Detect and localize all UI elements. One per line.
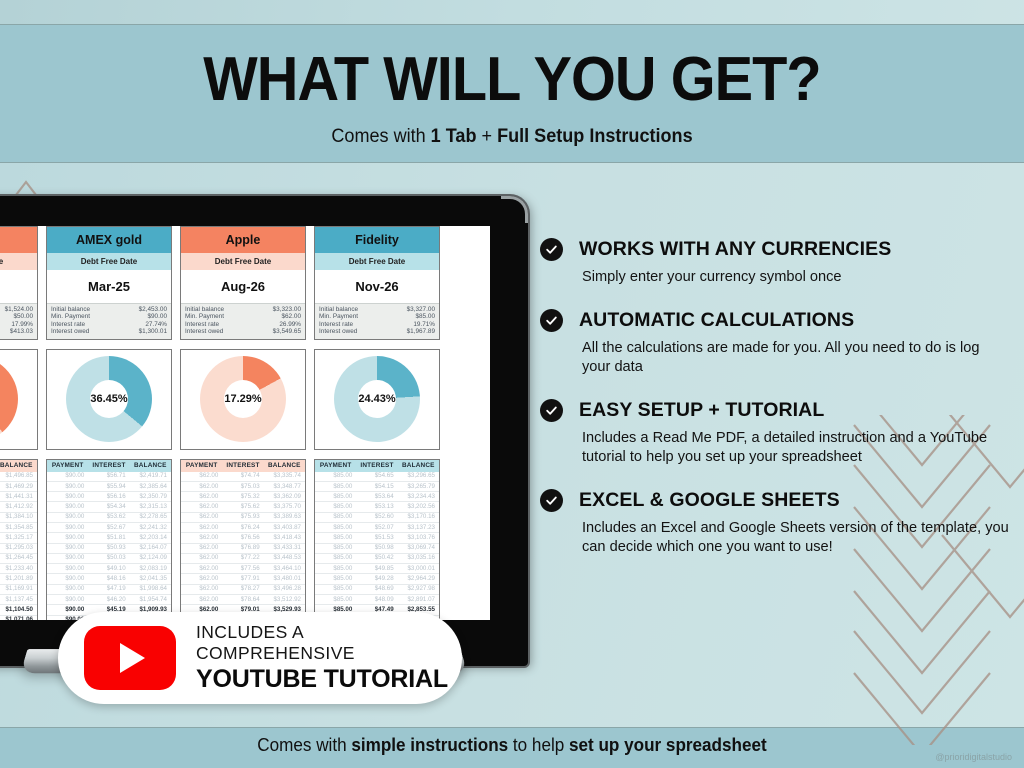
stat-value: $90.00 bbox=[147, 313, 167, 320]
stat-row: Interest owed$413.03 bbox=[0, 328, 33, 335]
table-cell: $90.00 bbox=[47, 492, 88, 501]
table-cell: $77.22 bbox=[222, 554, 263, 563]
table-cell: $62.00 bbox=[181, 574, 222, 583]
table-cell: $90.00 bbox=[47, 472, 88, 481]
table-cell: $77.56 bbox=[222, 564, 263, 573]
table-column-header: PAYMENT bbox=[315, 460, 356, 472]
debt-card[interactable]: AMEX goldDebt Free DateMar-25Initial bal… bbox=[46, 226, 172, 620]
stat-value: $3,549.65 bbox=[273, 328, 301, 335]
table-cell: $1,384.10 bbox=[0, 513, 37, 522]
table-cell: $2,927.98 bbox=[398, 585, 439, 594]
stat-row: Min. Payment$50.00 bbox=[0, 313, 33, 320]
stat-value: $3,327.00 bbox=[407, 306, 435, 313]
table-header-row: PAYMENTINTERESTBALANCE bbox=[315, 460, 439, 472]
feature-title: AUTOMATIC CALCULATIONS bbox=[579, 309, 854, 332]
donut-percentage-label: 17.29% bbox=[181, 393, 305, 405]
table-cell: $75.03 bbox=[222, 482, 263, 491]
table-cell: $75.62 bbox=[222, 502, 263, 511]
debt-card-stats: Initial balance$3,327.00Min. Payment$85.… bbox=[315, 303, 439, 339]
check-circle-icon bbox=[540, 399, 563, 422]
amortization-table[interactable]: PAYMENTINTERESTBALANCE$62.00$74.74$3,335… bbox=[180, 459, 306, 620]
table-cell: $1,104.50 bbox=[0, 605, 37, 614]
table-cell: $3,348.77 bbox=[264, 482, 305, 491]
progress-donut-chart: 36.45% bbox=[46, 349, 172, 450]
amortization-table[interactable]: PAYMENTINTERESTBALANCE$50.00$22.85$1,496… bbox=[0, 459, 38, 620]
table-row: $62.00$75.32$3,362.09 bbox=[181, 492, 305, 502]
table-row: $90.00$50.03$2,124.09 bbox=[47, 554, 171, 564]
amortization-table[interactable]: PAYMENTINTERESTBALANCE$85.00$54.65$3,296… bbox=[314, 459, 440, 620]
table-cell: $53.13 bbox=[356, 502, 397, 511]
feature-title: WORKS WITH ANY CURRENCIES bbox=[579, 238, 891, 261]
table-cell: $3,265.79 bbox=[398, 482, 439, 491]
table-column-header: BALANCE bbox=[398, 460, 439, 472]
stat-value: $62.00 bbox=[281, 313, 301, 320]
debt-free-date-value: Nov-26 bbox=[315, 270, 439, 303]
debt-card-name: AMEX gold bbox=[47, 227, 171, 253]
table-cell: $3,433.31 bbox=[264, 544, 305, 553]
table-cell: $2,385.64 bbox=[130, 482, 171, 491]
table-cell: $62.00 bbox=[181, 492, 222, 501]
table-column-header: INTEREST bbox=[88, 460, 129, 472]
table-row: $85.00$54.65$3,296.65 bbox=[315, 472, 439, 482]
debt-card-name: Fidelity bbox=[315, 227, 439, 253]
table-cell: $85.00 bbox=[315, 554, 356, 563]
table-cell: $3,375.70 bbox=[264, 502, 305, 511]
table-row: $62.00$76.89$3,433.31 bbox=[181, 544, 305, 554]
table-column-header: PAYMENT bbox=[47, 460, 88, 472]
table-cell: $2,124.09 bbox=[130, 554, 171, 563]
table-cell: $75.32 bbox=[222, 492, 263, 501]
table-row: $90.00$46.20$1,954.74 bbox=[47, 595, 171, 605]
feature-description: Simply enter your currency symbol once bbox=[582, 268, 1010, 287]
table-cell: $3,202.56 bbox=[398, 502, 439, 511]
stat-label: Interest owed bbox=[51, 328, 89, 335]
table-row: $85.00$50.98$3,069.74 bbox=[315, 544, 439, 554]
table-cell: $54.65 bbox=[356, 472, 397, 481]
table-header-row: PAYMENTINTERESTBALANCE bbox=[47, 460, 171, 472]
progress-donut-chart: 24.43% bbox=[314, 349, 440, 450]
table-row: $50.00$20.75$1,354.85 bbox=[0, 523, 37, 533]
table-cell: $3,418.43 bbox=[264, 533, 305, 542]
table-cell: $50.03 bbox=[88, 554, 129, 563]
feature-heading: WORKS WITH ANY CURRENCIES bbox=[540, 238, 1010, 261]
stat-value: 17.99% bbox=[11, 321, 33, 328]
progress-donut-chart: 17.29% bbox=[180, 349, 306, 450]
stat-label: Min. Payment bbox=[319, 313, 358, 320]
table-cell: $3,103.76 bbox=[398, 533, 439, 542]
stat-label: Initial balance bbox=[51, 306, 90, 313]
feature-description: All the calculations are made for you. A… bbox=[582, 339, 1010, 377]
debt-free-date-value: Mar-25 bbox=[47, 270, 171, 303]
youtube-badge-text: INCLUDES A COMPREHENSIVE YOUTUBE TUTORIA… bbox=[196, 622, 462, 694]
feature-title: EASY SETUP + TUTORIAL bbox=[579, 399, 824, 422]
feature-heading: EXCEL & GOOGLE SHEETS bbox=[540, 489, 1010, 512]
table-cell: $50.42 bbox=[356, 554, 397, 563]
table-cell: $62.00 bbox=[181, 513, 222, 522]
table-cell: $3,389.63 bbox=[264, 513, 305, 522]
table-column-header: BALANCE bbox=[130, 460, 171, 472]
table-row: $62.00$74.74$3,335.74 bbox=[181, 472, 305, 482]
table-cell: $2,891.07 bbox=[398, 595, 439, 604]
table-cell: $51.53 bbox=[356, 533, 397, 542]
table-cell: $90.00 bbox=[47, 595, 88, 604]
table-row: $90.00$47.19$1,998.64 bbox=[47, 585, 171, 595]
table-row: $90.00$48.16$2,041.35 bbox=[47, 574, 171, 584]
table-row: $85.00$48.69$2,927.98 bbox=[315, 585, 439, 595]
table-cell: $49.10 bbox=[88, 564, 129, 573]
feature-description: Includes a Read Me PDF, a detailed instr… bbox=[582, 429, 1010, 467]
stat-row: Interest rate17.99% bbox=[0, 321, 33, 328]
table-cell: $53.64 bbox=[356, 492, 397, 501]
stat-row: Interest rate19.71% bbox=[319, 321, 435, 328]
debt-card-summary: FidelityDebt Free DateNov-26Initial bala… bbox=[314, 226, 440, 340]
table-cell: $1,071.06 bbox=[0, 616, 37, 620]
table-cell: $85.00 bbox=[315, 472, 356, 481]
footer-caption: Comes with simple instructions to help s… bbox=[26, 735, 999, 756]
table-row: $50.00$21.18$1,384.10 bbox=[0, 513, 37, 523]
debt-free-date-label: Debt Free Date bbox=[315, 253, 439, 270]
table-cell: $74.74 bbox=[222, 472, 263, 481]
table-cell: $3,448.53 bbox=[264, 554, 305, 563]
watermark: @prioridigitalstudio bbox=[935, 752, 1012, 762]
table-cell: $85.00 bbox=[315, 502, 356, 511]
table-cell: $76.56 bbox=[222, 533, 263, 542]
table-row: $90.00$55.94$2,385.64 bbox=[47, 482, 171, 492]
table-cell: $49.85 bbox=[356, 564, 397, 573]
table-row: $85.00$53.13$3,202.56 bbox=[315, 502, 439, 512]
laptop-mockup: AMEX silverDebt Free DateOct-23Initial b… bbox=[0, 196, 528, 666]
table-row: $90.00$52.67$2,241.32 bbox=[47, 523, 171, 533]
table-row: $85.00$52.07$3,137.23 bbox=[315, 523, 439, 533]
table-cell: $62.00 bbox=[181, 595, 222, 604]
debt-card-name: Apple bbox=[181, 227, 305, 253]
debt-card-summary: AMEX goldDebt Free DateMar-25Initial bal… bbox=[46, 226, 172, 340]
debt-card-summary: DCUDebt Free DateAug-24Initial balance$1… bbox=[0, 226, 38, 340]
table-row: $50.00$19.87$1,295.03 bbox=[0, 544, 37, 554]
check-circle-icon bbox=[540, 489, 563, 512]
table-cell: $3,403.87 bbox=[264, 523, 305, 532]
table-cell: $3,362.09 bbox=[264, 492, 305, 501]
donut-percentage-label: 24.43% bbox=[315, 393, 439, 405]
table-cell: $85.00 bbox=[315, 585, 356, 594]
stat-label: Interest owed bbox=[319, 328, 357, 335]
laptop-screen-bezel: AMEX silverDebt Free DateOct-23Initial b… bbox=[0, 196, 528, 666]
table-cell: $2,964.29 bbox=[398, 574, 439, 583]
footer-bold-simple: simple instructions bbox=[351, 735, 508, 755]
table-cell: $62.00 bbox=[181, 533, 222, 542]
stat-row: Min. Payment$90.00 bbox=[51, 313, 167, 320]
table-cell: $77.91 bbox=[222, 574, 263, 583]
table-column-header: BALANCE bbox=[264, 460, 305, 472]
table-cell: $2,203.14 bbox=[130, 533, 171, 542]
table-cell: $52.07 bbox=[356, 523, 397, 532]
table-cell: $49.28 bbox=[356, 574, 397, 583]
stat-value: $1,967.89 bbox=[407, 328, 435, 335]
table-header-row: PAYMENTINTERESTBALANCE bbox=[0, 460, 37, 472]
table-cell: $1,201.89 bbox=[0, 574, 37, 583]
table-cell: $62.00 bbox=[181, 482, 222, 491]
table-cell: $1,496.85 bbox=[0, 472, 37, 481]
table-row: $62.00$75.93$3,389.63 bbox=[181, 513, 305, 523]
table-cell: $3,335.74 bbox=[264, 472, 305, 481]
table-column-header: INTEREST bbox=[356, 460, 397, 472]
table-cell: $3,234.43 bbox=[398, 492, 439, 501]
debt-free-date-value: Aug-24 bbox=[0, 270, 37, 303]
table-row: $90.00$53.62$2,278.65 bbox=[47, 513, 171, 523]
feature-description: Includes an Excel and Google Sheets vers… bbox=[582, 519, 1010, 557]
table-cell: $90.00 bbox=[47, 533, 88, 542]
table-cell: $85.00 bbox=[315, 595, 356, 604]
debt-card-name: DCU bbox=[0, 227, 37, 253]
table-cell: $48.16 bbox=[88, 574, 129, 583]
table-row: $90.00$50.93$2,164.07 bbox=[47, 544, 171, 554]
table-cell: $54.34 bbox=[88, 502, 129, 511]
table-column-header: PAYMENT bbox=[181, 460, 222, 472]
table-cell: $1,354.85 bbox=[0, 523, 37, 532]
debt-card-stats: Initial balance$1,524.00Min. Payment$50.… bbox=[0, 303, 37, 339]
table-cell: $76.89 bbox=[222, 544, 263, 553]
stat-label: Min. Payment bbox=[185, 313, 224, 320]
stat-label: Interest rate bbox=[185, 321, 219, 328]
table-cell: $90.00 bbox=[47, 564, 88, 573]
table-row: $85.00$50.42$3,035.16 bbox=[315, 554, 439, 564]
table-row: $85.00$52.60$3,170.16 bbox=[315, 513, 439, 523]
table-cell: $62.00 bbox=[181, 544, 222, 553]
table-cell: $85.00 bbox=[315, 492, 356, 501]
spreadsheet-canvas: AMEX silverDebt Free DateOct-23Initial b… bbox=[0, 226, 490, 620]
table-cell: $46.20 bbox=[88, 595, 129, 604]
table-cell: $1,469.29 bbox=[0, 482, 37, 491]
table-row: $90.00$51.81$2,203.14 bbox=[47, 533, 171, 543]
table-cell: $85.00 bbox=[315, 513, 356, 522]
table-cell: $1,412.92 bbox=[0, 502, 37, 511]
stat-value: $1,300.01 bbox=[139, 328, 167, 335]
table-row: $85.00$49.28$2,964.29 bbox=[315, 574, 439, 584]
stat-label: Initial balance bbox=[319, 306, 358, 313]
table-cell: $56.16 bbox=[88, 492, 129, 501]
table-cell: $56.71 bbox=[88, 472, 129, 481]
table-cell: $1,998.64 bbox=[130, 585, 171, 594]
table-row: $50.00$22.03$1,441.31 bbox=[0, 492, 37, 502]
table-cell: $53.62 bbox=[88, 513, 129, 522]
table-cell: $85.00 bbox=[315, 544, 356, 553]
stat-row: Initial balance$1,524.00 bbox=[0, 306, 33, 313]
table-row: $62.00$78.27$3,496.28 bbox=[181, 585, 305, 595]
table-row: $62.00$77.56$3,464.10 bbox=[181, 564, 305, 574]
table-cell: $3,000.01 bbox=[398, 564, 439, 573]
table-cell: $2,083.19 bbox=[130, 564, 171, 573]
table-cell: $2,164.07 bbox=[130, 544, 171, 553]
table-cell: $85.00 bbox=[315, 482, 356, 491]
stat-row: Initial balance$3,327.00 bbox=[319, 306, 435, 313]
table-cell: $2,241.32 bbox=[130, 523, 171, 532]
stat-value: $3,323.00 bbox=[273, 306, 301, 313]
stat-label: Interest rate bbox=[51, 321, 85, 328]
stat-label: Min. Payment bbox=[51, 313, 90, 320]
debt-card[interactable]: DCUDebt Free DateAug-24Initial balance$1… bbox=[0, 226, 38, 620]
table-row: $50.00$22.44$1,469.29 bbox=[0, 482, 37, 492]
table-cell: $62.00 bbox=[181, 564, 222, 573]
youtube-badge-line1: INCLUDES A COMPREHENSIVE bbox=[196, 622, 462, 664]
table-cell: $2,041.35 bbox=[130, 574, 171, 583]
table-cell: $3,137.23 bbox=[398, 523, 439, 532]
table-row: $90.00$54.34$2,315.13 bbox=[47, 502, 171, 512]
table-cell: $1,441.31 bbox=[0, 492, 37, 501]
feature-heading: AUTOMATIC CALCULATIONS bbox=[540, 309, 1010, 332]
debt-free-date-label: Debt Free Date bbox=[47, 253, 171, 270]
table-cell: $3,296.65 bbox=[398, 472, 439, 481]
table-row: $50.00$18.02$1,169.91 bbox=[0, 585, 37, 595]
table-row: $50.00$19.41$1,264.45 bbox=[0, 554, 37, 564]
stat-value: $2,453.00 bbox=[139, 306, 167, 313]
feature-list: WORKS WITH ANY CURRENCIESSimply enter yo… bbox=[540, 238, 1010, 579]
table-cell: $3,035.16 bbox=[398, 554, 439, 563]
stat-value: 26.99% bbox=[279, 321, 301, 328]
laptop-screen: AMEX silverDebt Free DateOct-23Initial b… bbox=[0, 226, 490, 620]
footer-bold-setup: set up your spreadsheet bbox=[569, 735, 767, 755]
table-cell: $51.81 bbox=[88, 533, 129, 542]
stat-row: Interest owed$1,300.01 bbox=[51, 328, 167, 335]
table-cell: $52.60 bbox=[356, 513, 397, 522]
table-row: $50.00$17.54$1,137.45 bbox=[0, 595, 37, 605]
debt-card-summary: AppleDebt Free DateAug-26Initial balance… bbox=[180, 226, 306, 340]
donut-percentage-label: 36.45% bbox=[47, 393, 171, 405]
table-cell: $2,278.65 bbox=[130, 513, 171, 522]
debt-card-stats: Initial balance$2,453.00Min. Payment$90.… bbox=[47, 303, 171, 339]
table-cell: $3,512.92 bbox=[264, 595, 305, 604]
table-cell: $1,137.45 bbox=[0, 595, 37, 604]
stat-row: Min. Payment$85.00 bbox=[319, 313, 435, 320]
debt-free-date-value: Aug-26 bbox=[181, 270, 305, 303]
table-column-header: INTEREST bbox=[222, 460, 263, 472]
table-cell: $90.00 bbox=[47, 605, 88, 614]
youtube-tutorial-badge[interactable]: INCLUDES A COMPREHENSIVE YOUTUBE TUTORIA… bbox=[58, 612, 462, 704]
donut-percentage-label: 38.87% bbox=[0, 393, 37, 405]
table-row: $50.00$18.96$1,233.40 bbox=[0, 564, 37, 574]
subtitle-bold-tabs: 1 Tab bbox=[431, 126, 477, 147]
table-row: $85.00$53.64$3,234.43 bbox=[315, 492, 439, 502]
debt-card[interactable]: FidelityDebt Free DateNov-26Initial bala… bbox=[314, 226, 440, 620]
stat-row: Min. Payment$62.00 bbox=[185, 313, 301, 320]
table-cell: $1,325.17 bbox=[0, 533, 37, 542]
table-cell: $3,069.74 bbox=[398, 544, 439, 553]
table-cell: $90.00 bbox=[47, 574, 88, 583]
feature-item: AUTOMATIC CALCULATIONSAll the calculatio… bbox=[540, 309, 1010, 377]
table-cell: $1,169.91 bbox=[0, 585, 37, 594]
table-cell: $1,233.40 bbox=[0, 564, 37, 573]
table-cell: $90.00 bbox=[47, 544, 88, 553]
table-row: $85.00$51.53$3,103.76 bbox=[315, 533, 439, 543]
table-cell: $50.98 bbox=[356, 544, 397, 553]
table-cell: $3,480.01 bbox=[264, 574, 305, 583]
table-cell: $1,295.03 bbox=[0, 544, 37, 553]
stat-row: Interest owed$3,549.65 bbox=[185, 328, 301, 335]
stat-label: Initial balance bbox=[185, 306, 224, 313]
check-circle-icon bbox=[540, 309, 563, 332]
table-column-header: BALANCE bbox=[0, 460, 37, 472]
subtitle-mid: + bbox=[476, 126, 497, 147]
feature-item: WORKS WITH ANY CURRENCIESSimply enter yo… bbox=[540, 238, 1010, 287]
table-row: $50.00$20.31$1,325.17 bbox=[0, 533, 37, 543]
table-cell: $78.27 bbox=[222, 585, 263, 594]
table-cell: $2,419.71 bbox=[130, 472, 171, 481]
table-cell: $62.00 bbox=[181, 502, 222, 511]
debt-card-grid: AMEX silverDebt Free DateOct-23Initial b… bbox=[0, 226, 440, 620]
table-row: $85.00$54.15$3,265.79 bbox=[315, 482, 439, 492]
feature-item: EASY SETUP + TUTORIALIncludes a Read Me … bbox=[540, 399, 1010, 467]
table-cell: $48.09 bbox=[356, 595, 397, 604]
stat-row: Initial balance$2,453.00 bbox=[51, 306, 167, 313]
table-row: $85.00$49.85$3,000.01 bbox=[315, 564, 439, 574]
table-cell: $85.00 bbox=[315, 574, 356, 583]
table-cell: $90.00 bbox=[47, 523, 88, 532]
feature-item: EXCEL & GOOGLE SHEETSIncludes an Excel a… bbox=[540, 489, 1010, 557]
table-cell: $2,350.79 bbox=[130, 492, 171, 501]
table-row: $50.00$18.49$1,201.89 bbox=[0, 574, 37, 584]
table-cell: $85.00 bbox=[315, 523, 356, 532]
stat-value: 19.71% bbox=[413, 321, 435, 328]
table-cell: $1,954.74 bbox=[130, 595, 171, 604]
table-row: $62.00$75.62$3,375.70 bbox=[181, 502, 305, 512]
table-row: $62.00$78.64$3,512.92 bbox=[181, 595, 305, 605]
page-title: WHAT WILL YOU GET? bbox=[36, 44, 988, 115]
table-row: $50.00$21.61$1,412.92 bbox=[0, 502, 37, 512]
debt-free-date-label: Debt Free Date bbox=[181, 253, 305, 270]
debt-card[interactable]: AppleDebt Free DateAug-26Initial balance… bbox=[180, 226, 306, 620]
table-row: $85.00$48.09$2,891.07 bbox=[315, 595, 439, 605]
stat-value: $85.00 bbox=[415, 313, 435, 320]
table-cell: $62.00 bbox=[181, 472, 222, 481]
table-cell: $3,464.10 bbox=[264, 564, 305, 573]
table-cell: $90.00 bbox=[47, 585, 88, 594]
stat-row: Initial balance$3,323.00 bbox=[185, 306, 301, 313]
feature-title: EXCEL & GOOGLE SHEETS bbox=[579, 489, 840, 512]
table-row: $90.00$56.71$2,419.71 bbox=[47, 472, 171, 482]
youtube-play-icon bbox=[84, 626, 176, 690]
stat-value: $413.03 bbox=[10, 328, 33, 335]
table-cell: $55.94 bbox=[88, 482, 129, 491]
table-cell: $85.00 bbox=[315, 533, 356, 542]
table-cell: $78.64 bbox=[222, 595, 263, 604]
table-cell: $75.93 bbox=[222, 513, 263, 522]
table-cell: $3,496.28 bbox=[264, 585, 305, 594]
subtitle-bold-instructions: Full Setup Instructions bbox=[497, 126, 693, 147]
progress-donut-chart: 38.87% bbox=[0, 349, 38, 450]
table-cell: $52.67 bbox=[88, 523, 129, 532]
stat-value: $50.00 bbox=[13, 313, 33, 320]
table-cell: $90.00 bbox=[47, 502, 88, 511]
table-row: $62.00$75.03$3,348.77 bbox=[181, 482, 305, 492]
stat-value: 27.74% bbox=[145, 321, 167, 328]
table-header-row: PAYMENTINTERESTBALANCE bbox=[181, 460, 305, 472]
table-row: $50.00$16.56$1,071.06 bbox=[0, 616, 37, 620]
youtube-badge-line2: YOUTUBE TUTORIAL bbox=[196, 665, 462, 694]
debt-free-date-label: Debt Free Date bbox=[0, 253, 37, 270]
table-row: $90.00$56.16$2,350.79 bbox=[47, 492, 171, 502]
table-row: $50.00$17.05$1,104.50 bbox=[0, 605, 37, 615]
amortization-table[interactable]: PAYMENTINTERESTBALANCE$90.00$56.71$2,419… bbox=[46, 459, 172, 620]
subtitle-pre: Comes with bbox=[331, 126, 430, 147]
table-cell: $62.00 bbox=[181, 554, 222, 563]
page-subtitle: Comes with 1 Tab + Full Setup Instructio… bbox=[26, 126, 999, 148]
table-row: $62.00$77.22$3,448.53 bbox=[181, 554, 305, 564]
stat-label: Interest rate bbox=[319, 321, 353, 328]
stat-value: $1,524.00 bbox=[5, 306, 33, 313]
table-cell: $3,170.16 bbox=[398, 513, 439, 522]
table-cell: $48.69 bbox=[356, 585, 397, 594]
table-cell: $76.24 bbox=[222, 523, 263, 532]
check-circle-icon bbox=[540, 238, 563, 261]
